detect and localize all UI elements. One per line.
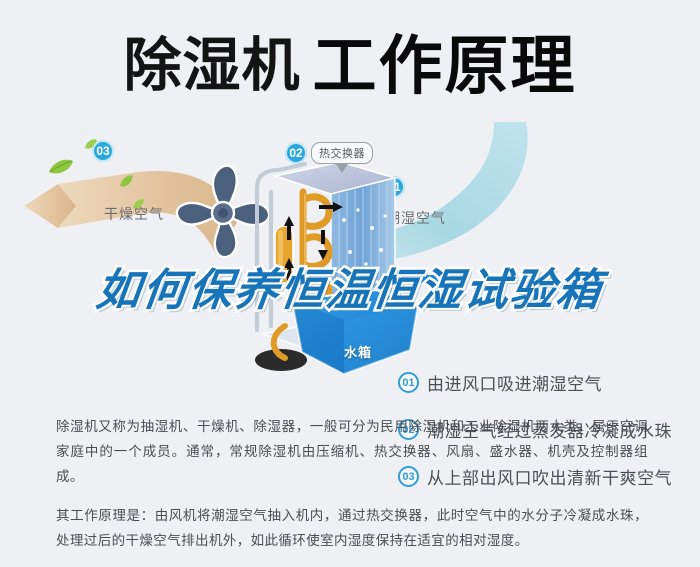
page-title-part1: 除湿机 — [123, 37, 300, 95]
poster-root: 除湿机 工作原理 — [0, 0, 700, 566]
water-tank-icon — [288, 290, 420, 376]
step-item: 01 由进风口吸进潮湿空气 — [398, 370, 698, 405]
step-number: 01 — [398, 372, 419, 393]
dry-air-label: 干燥空气 — [104, 204, 164, 224]
dehumidifier-diagram: 03 干燥空气 01 潮湿空气 — [0, 120, 700, 400]
heat-exchanger-callout: 热交换器 — [311, 142, 373, 164]
step-text: 由进风口吸进潮湿空气 — [427, 370, 602, 395]
leaf-icon — [118, 174, 134, 188]
badge-heat-exchanger: 02 — [285, 142, 307, 164]
page-title: 除湿机 工作原理 — [0, 18, 700, 114]
leaf-icon — [48, 158, 74, 176]
body-copy: 除湿机又称为抽湿机、干燥机、除湿器，一般可分为民用除湿机和工业除湿机两大类，属于… — [56, 414, 648, 567]
air-intake-arrow-icon — [396, 268, 440, 290]
water-tank-label: 水箱 — [344, 342, 372, 361]
body-paragraph-1: 除湿机又称为抽湿机、干燥机、除湿器，一般可分为民用除湿机和工业除湿机两大类，属于… — [56, 414, 648, 489]
callout-tail — [336, 164, 348, 173]
badge-dry-air: 03 — [92, 140, 114, 162]
page-title-part2: 工作原理 — [313, 34, 577, 98]
body-paragraph-2: 其工作原理是：由风机将潮湿空气抽入机内，通过热交换器，此时空气中的水分子冷凝成水… — [56, 503, 648, 553]
